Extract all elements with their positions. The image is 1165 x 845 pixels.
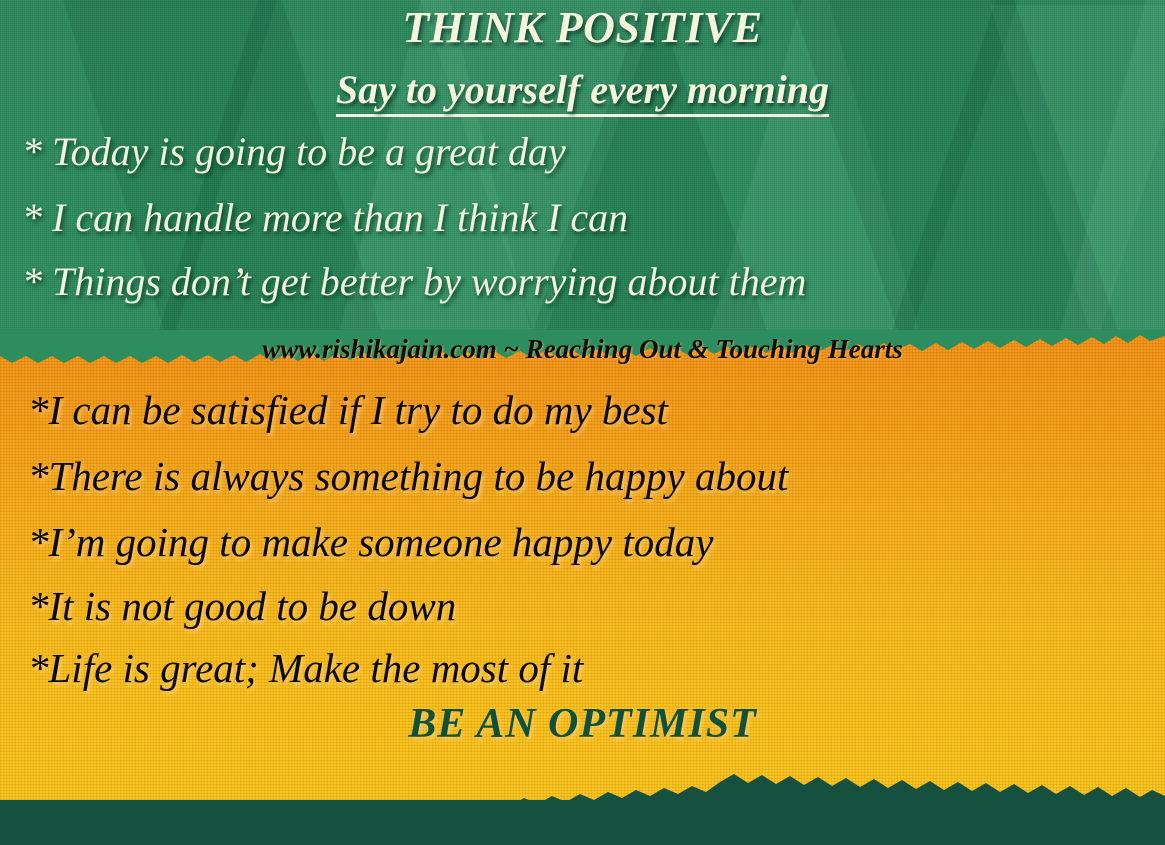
closing-statement: BE AN OPTIMIST <box>0 700 1165 748</box>
affirmation-item: *It is not good to be down <box>28 582 456 630</box>
affirmation-item: *I can be satisfied if I try to do my be… <box>28 386 668 434</box>
affirmation-item: * Today is going to be a great day <box>22 128 566 175</box>
affirmation-item: * I can handle more than I think I can <box>22 194 628 241</box>
page-title: THINK POSITIVE <box>0 2 1165 53</box>
motivational-poster: THINK POSITIVE Say to yourself every mor… <box>0 0 1165 845</box>
affirmation-item: *Life is great; Make the most of it <box>28 644 583 692</box>
subtitle: Say to yourself every morning <box>0 66 1165 113</box>
website-credit: www.rishikajain.com ~ Reaching Out & Tou… <box>0 334 1165 365</box>
affirmation-item: *There is always something to be happy a… <box>28 452 788 500</box>
facet-shape <box>990 5 1165 350</box>
affirmation-item: * Things don’t get better by worrying ab… <box>22 258 806 305</box>
affirmation-item: *I’m going to make someone happy today <box>28 518 713 566</box>
bottom-dark-band <box>0 800 1165 845</box>
subtitle-text: Say to yourself every morning <box>336 67 829 117</box>
